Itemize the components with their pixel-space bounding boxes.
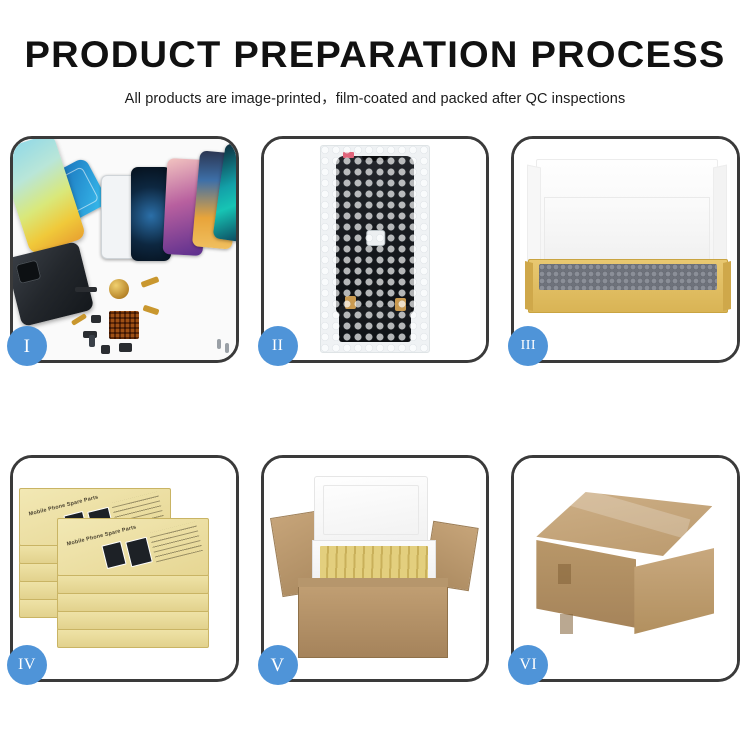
step-panel-2: II [261, 136, 490, 363]
step-badge-2: II [258, 326, 298, 366]
stacked-box-5 [57, 628, 209, 648]
stacked-box-top-front: Mobile Phone Spare Parts [57, 518, 209, 576]
box-face-front: Mobile Phone Spare Parts [58, 519, 208, 575]
box-stack: Mobile Phone Spare Parts [19, 478, 235, 658]
box-artwork-4 [125, 537, 153, 568]
battery-icon [89, 335, 95, 347]
step-image-4: Mobile Phone Spare Parts [13, 458, 236, 679]
header: PRODUCT PREPARATION PROCESS All products… [0, 0, 750, 108]
stacked-boxes-illustration: Mobile Phone Spare Parts [13, 458, 236, 679]
sealed-carton-illustration [514, 458, 737, 679]
step-image-2 [264, 139, 487, 360]
page-title: PRODUCT PREPARATION PROCESS [0, 0, 750, 75]
step-image-5 [264, 458, 487, 679]
step-panel-1: I [10, 136, 239, 363]
kraft-tray-icon [528, 259, 728, 313]
step-panel-4: Mobile Phone Spare Parts [10, 455, 239, 682]
carton-side-face [634, 548, 714, 634]
earpiece-chip-icon [75, 287, 97, 292]
step-badge-6: VI [508, 645, 548, 685]
carton-body-icon [298, 578, 448, 658]
step-panel-6: VI [511, 455, 740, 682]
step-panel-5: V [261, 455, 490, 682]
box-spec-lines-front [149, 522, 203, 563]
bubble-wrap-illustration [264, 139, 487, 360]
screw-2-icon [225, 343, 229, 353]
tape-strip-2 [560, 614, 573, 634]
foam-sheet-icon [544, 197, 710, 265]
screw-1-icon [217, 339, 221, 349]
bubble-padding-icon [539, 264, 717, 290]
stacked-box-6 [57, 610, 209, 630]
tray-edge-left [525, 261, 533, 311]
mesh-grille-icon [109, 311, 139, 339]
step-badge-4: IV [7, 645, 47, 685]
steps-grid: I II [10, 136, 740, 682]
tape-strip-1 [558, 564, 571, 584]
stacked-box-7 [57, 592, 209, 612]
flex-cable-2-icon [142, 305, 159, 316]
box-artwork-3 [101, 541, 126, 569]
step-badge-5: V [258, 645, 298, 685]
speaker-module-icon [109, 279, 129, 299]
page-subtitle: All products are image-printed，film-coat… [0, 75, 750, 108]
step-image-1 [13, 139, 236, 360]
small-part-3-icon [119, 343, 132, 352]
phone-parts-illustration [13, 139, 236, 360]
flex-cable-1-icon [141, 276, 160, 288]
step-image-6 [514, 458, 737, 679]
flex-cable-3-icon [71, 313, 87, 326]
small-part-4-icon [101, 345, 110, 354]
step-badge-1: I [7, 326, 47, 366]
bubble-texture [321, 146, 429, 352]
bubble-wrap-bag-icon [320, 145, 430, 353]
step-panel-3: III [511, 136, 740, 363]
carton-front-face [536, 540, 636, 628]
product-preparation-infographic: PRODUCT PREPARATION PROCESS All products… [0, 0, 750, 750]
step-image-3 [514, 139, 737, 360]
carton-packing-illustration [264, 458, 487, 679]
tray-box-illustration [514, 139, 737, 360]
styrofoam-lid-icon [314, 476, 428, 544]
tray-edge-right [723, 261, 731, 311]
step-badge-3: III [508, 326, 548, 366]
small-part-1-icon [91, 315, 101, 323]
stacked-box-8 [57, 574, 209, 594]
